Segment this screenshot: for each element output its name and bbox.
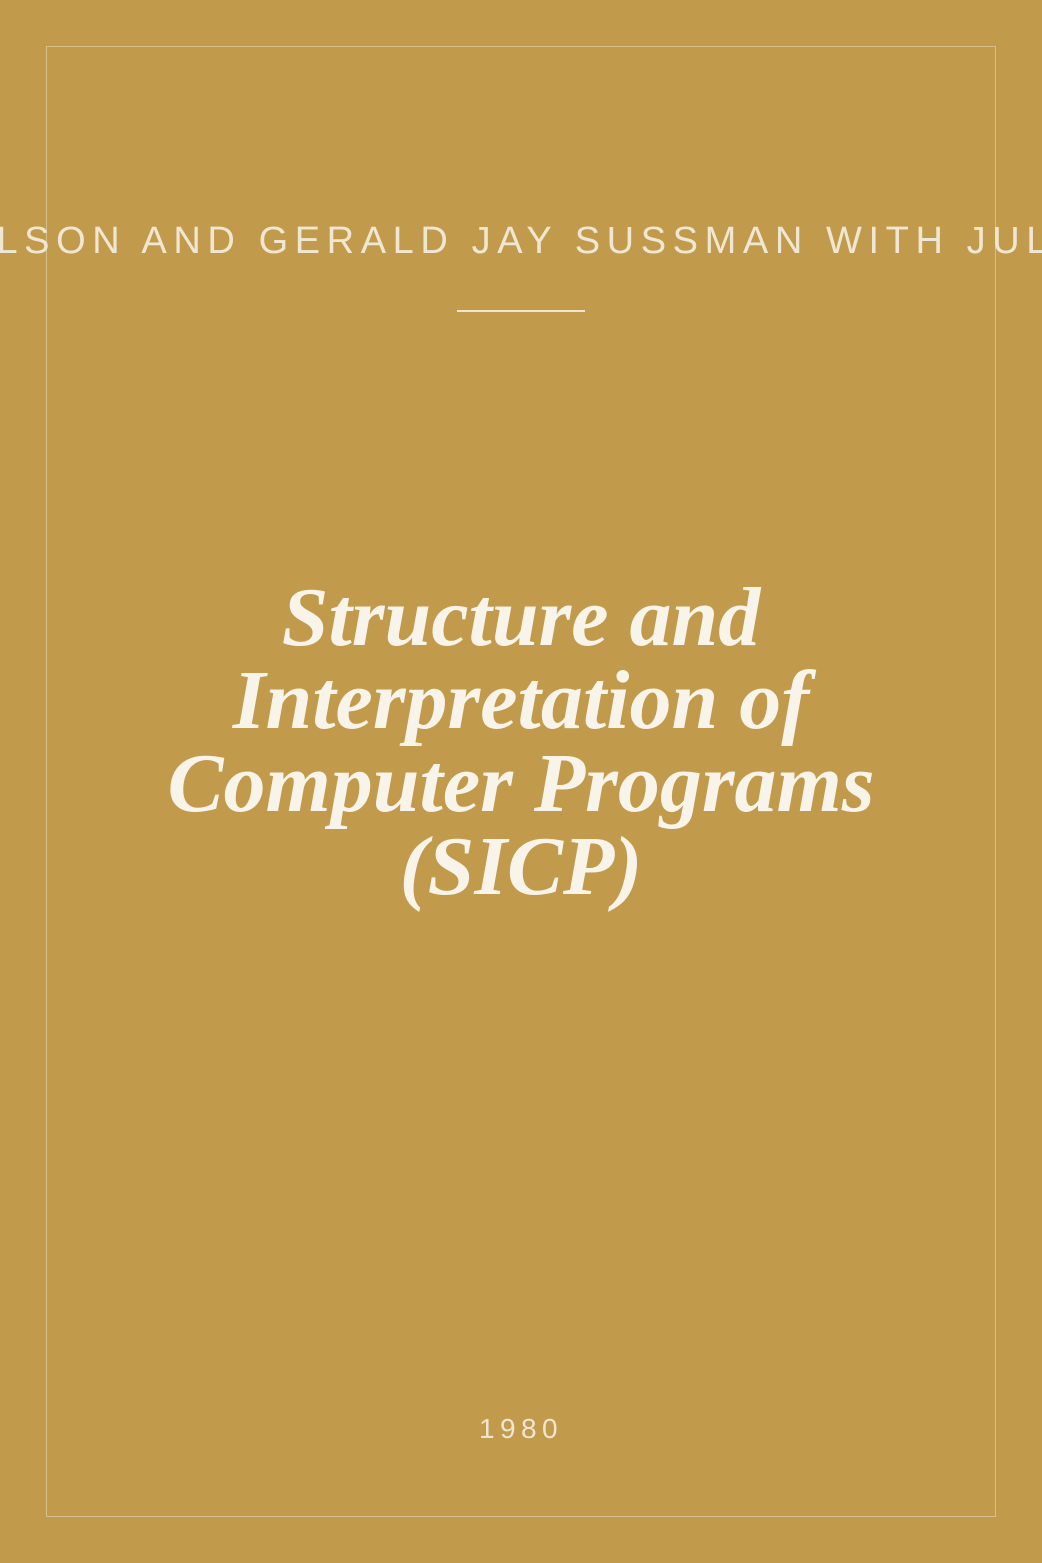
book-cover: HAROLD ABELSON AND GERALD JAY SUSSMAN WI… (0, 0, 1042, 1563)
book-title: Structure and Interpretation of Computer… (141, 576, 901, 908)
title-line-3: Computer Programs (141, 742, 901, 825)
author-band: HAROLD ABELSON AND GERALD JAY SUSSMAN WI… (0, 213, 1042, 269)
year-text: 1980 (479, 1413, 563, 1444)
divider-rule (457, 310, 585, 312)
title-line-4: (SICP) (141, 825, 901, 908)
title-line-1: Structure and (141, 576, 901, 659)
publication-year: 1980 (0, 1408, 1042, 1450)
title-line-2: Interpretation of (141, 659, 901, 742)
divider (0, 304, 1042, 318)
author-names: HAROLD ABELSON AND GERALD JAY SUSSMAN WI… (0, 213, 1042, 269)
